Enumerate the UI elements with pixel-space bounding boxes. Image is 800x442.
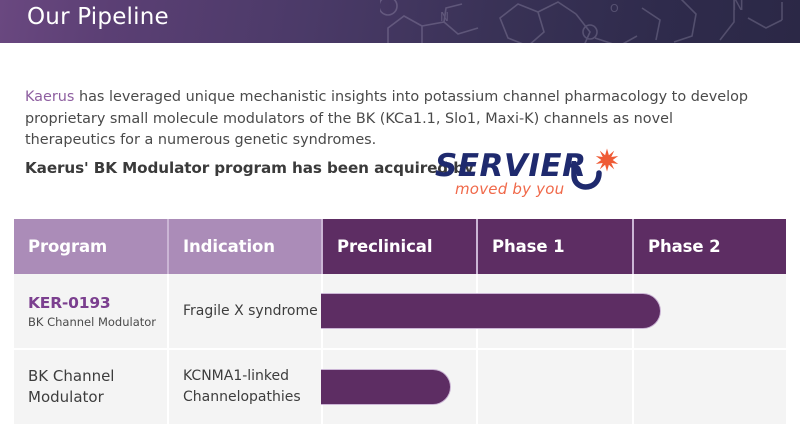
row-program-cell: BK Channel Modulator [14, 350, 167, 424]
svg-text:O: O [610, 2, 619, 15]
row-program-cell: KER-0193 BK Channel Modulator [14, 274, 167, 348]
intro-body-text: has leveraged unique mechanistic insight… [25, 89, 748, 148]
program-name: BK Channel Modulator [28, 366, 167, 408]
progress-bar [321, 369, 451, 405]
column-header-phase-1-label: Phase 1 [492, 237, 565, 256]
row-phase-1-cell [476, 350, 632, 424]
program-code: KER-0193 [28, 294, 167, 312]
column-header-program: Program [14, 219, 167, 274]
svg-text:N: N [440, 10, 449, 24]
pipeline-table: Program Indication Preclinical Phase 1 P… [14, 219, 786, 433]
intro-paragraph: Kaerus has leveraged unique mechanistic … [25, 87, 760, 152]
pipeline-table-header-row: Program Indication Preclinical Phase 1 P… [14, 219, 786, 274]
progress-bar [321, 293, 661, 329]
pipeline-table-body: KER-0193 BK Channel Modulator Fragile X … [14, 274, 786, 426]
svg-text:N: N [732, 0, 744, 14]
program-subtitle: BK Channel Modulator [28, 315, 167, 329]
servier-wordmark: SERVIER [435, 148, 586, 184]
column-header-phase-2: Phase 2 [632, 219, 786, 274]
page-title: Our Pipeline [27, 4, 169, 30]
column-header-indication: Indication [167, 219, 321, 274]
acquisition-announcement: Kaerus' BK Modulator program has been ac… [25, 152, 765, 200]
molecular-structure-watermark: N O N [380, 0, 800, 43]
servier-star-icon [595, 148, 619, 172]
table-row: KER-0193 BK Channel Modulator Fragile X … [14, 274, 786, 350]
page-header-banner: N O N Our Pipeline [0, 0, 800, 43]
company-name: Kaerus [25, 89, 74, 105]
servier-logo: SERVIER moved by you [435, 148, 635, 200]
indication-label: KCNMA1-linked Channelopathies [183, 366, 321, 408]
column-header-preclinical: Preclinical [321, 219, 476, 274]
column-header-preclinical-label: Preclinical [337, 237, 432, 256]
row-indication-cell: Fragile X syndrome [167, 274, 321, 348]
servier-tagline: moved by you [455, 180, 564, 198]
acquisition-text: Kaerus' BK Modulator program has been ac… [25, 159, 474, 177]
indication-label: Fragile X syndrome [183, 301, 321, 322]
row-indication-cell: KCNMA1-linked Channelopathies [167, 350, 321, 424]
row-phase-2-cell [632, 350, 786, 424]
column-header-phase-1: Phase 1 [476, 219, 632, 274]
column-header-program-label: Program [28, 237, 107, 256]
column-header-indication-label: Indication [183, 237, 275, 256]
column-header-phase-2-label: Phase 2 [648, 237, 721, 256]
table-row: BK Channel Modulator KCNMA1-linked Chann… [14, 350, 786, 426]
